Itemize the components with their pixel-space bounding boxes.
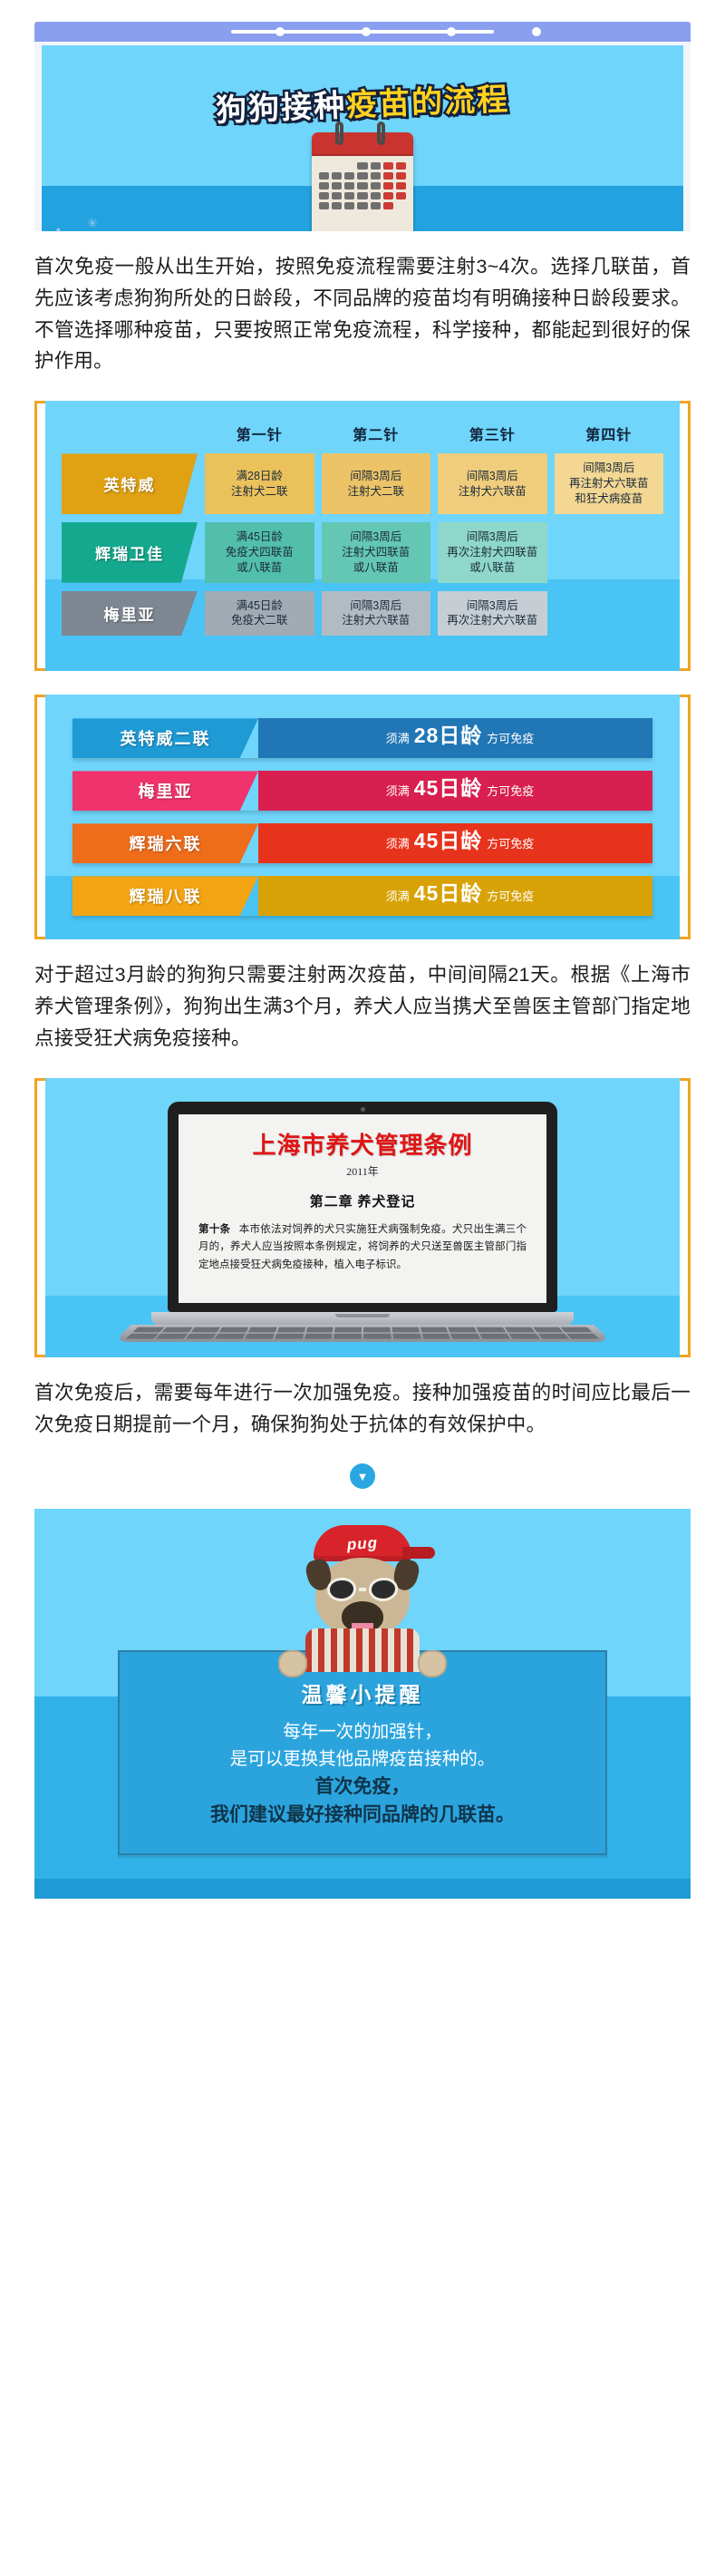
progress-dot-3 [447,27,456,36]
document-chapter: 第二章 养犬登记 [198,1191,527,1210]
agebar-prefix: 须满 [386,887,410,904]
document-title: 上海市养犬管理条例 [198,1127,527,1161]
progress-dot-1 [275,27,285,36]
laptop-keyboard [113,1325,613,1342]
agebar-suffix: 方可免疫 [487,834,534,851]
table-row: 辉瑞卫佳 满45日龄 免疫犬四联苗 或八联苗 间隔3周后 注射犬四联苗 或八联苗… [62,522,663,583]
tip-card: 温馨小提醒 每年一次的加强针， 是可以更换其他品牌疫苗接种的。 首次免疫， 我们… [118,1650,607,1855]
calendar-icon [312,132,413,231]
sparkle-star: ✳ [87,216,98,231]
calendar-ring-right [377,122,385,145]
list-item: 辉瑞六联 须满 45日龄 方可免疫 [72,823,652,863]
schedule-table: 第一针 第二针 第三针 第四针 英特威 满28日龄 注射犬二联 间隔3周后 注射… [45,401,680,671]
pug-snout [342,1601,383,1632]
agebar-prefix: 须满 [386,782,410,799]
hero-padding: 狗狗接种疫苗的流程 [34,42,691,231]
schedule-brand: 梅里亚 [62,591,198,637]
footer-strip [34,1879,691,1899]
agebar-suffix: 方可免疫 [487,887,534,904]
laptop-base [151,1312,574,1325]
agebar-number: 45日龄 [414,876,483,907]
list-item: 辉瑞八联 须满 45日龄 方可免疫 [72,876,652,916]
hero-topbar [34,22,691,42]
agebar-number: 45日龄 [414,823,483,854]
progress-dot-2 [362,27,371,36]
article-page: 狗狗接种疫苗的流程 [0,0,725,2576]
schedule-cell: 间隔3周后 再次注射犬六联苗 [438,591,547,637]
pug-cap: pug [314,1525,411,1561]
pug-dog-illustration: pug [285,1525,440,1672]
schedule-col-3: 第三针 [438,423,547,444]
agebar-number: 45日龄 [414,771,483,802]
chevron-down-icon: ▼ [350,1463,375,1489]
agebar-name: 英特威二联 [72,718,258,758]
agebar-prefix: 须满 [386,834,410,851]
schedule-brand: 辉瑞卫佳 [62,522,198,583]
schedule-cell: 间隔3周后 注射犬六联苗 [322,591,431,637]
schedule-cell: 间隔3周后 再次注射犬四联苗 或八联苗 [438,522,547,583]
list-item: 梅里亚 须满 45日龄 方可免疫 [72,771,652,811]
table-row: 梅里亚 满45日龄 免疫犬二联 间隔3周后 注射犬六联苗 间隔3周后 再次注射犬… [62,591,663,637]
tip-card-line-3: 首次免疫， [138,1773,587,1802]
schedule-cell: 满45日龄 免疫犬二联 [205,591,314,637]
paragraph-intro: 首次免疫一般从出生开始，按照免疫流程需要注射3~4次。选择几联苗，首先应该考虑狗… [34,251,691,377]
agebar-name: 辉瑞八联 [72,876,258,916]
schedule-col-2: 第二针 [322,423,431,444]
pug-paw-left [278,1650,307,1677]
laptop-lid: 上海市养犬管理条例 2011年 第二章 养犬登记 第十条 本市依法对饲养的犬只实… [168,1102,557,1312]
tip-card-line-1: 每年一次的加强针， [138,1719,587,1745]
figure-regulation-laptop: 上海市养犬管理条例 2011年 第二章 养犬登记 第十条 本市依法对饲养的犬只实… [34,1078,691,1357]
agebars-canvas: 英特威二联 须满 28日龄 方可免疫 梅里亚 须满 45日龄 方可免疫 [45,695,680,939]
schedule-cell: 间隔3周后 再注射犬六联苗 和狂犬病疫苗 [555,453,664,514]
agebar-value: 须满 28日龄 方可免疫 [258,718,652,758]
agebar-name: 辉瑞六联 [72,823,258,863]
schedule-cell: 满28日龄 注射犬二联 [205,453,314,514]
schedule-header-row: 第一针 第二针 第三针 第四针 [62,423,663,444]
schedule-header-blank [62,423,198,444]
laptop-illustration: 上海市养犬管理条例 2011年 第二章 养犬登记 第十条 本市依法对饲养的犬只实… [45,1078,680,1357]
tip-card-line-4: 我们建议最好接种同品牌的几联苗。 [138,1801,587,1830]
paragraph-booster: 首次免疫后，需要每年进行一次加强免疫。接种加强疫苗的时间应比最后一次免疫日期提前… [34,1377,691,1441]
laptop-canvas: 上海市养犬管理条例 2011年 第二章 养犬登记 第十条 本市依法对饲养的犬只实… [45,1078,680,1357]
section-divider: ▼ [34,1463,691,1489]
pug-body [305,1628,420,1672]
figure-age-requirements: 英特威二联 须满 28日龄 方可免疫 梅里亚 须满 45日龄 方可免疫 [34,695,691,939]
schedule-cell [555,522,664,583]
agebar-suffix: 方可免疫 [487,782,534,799]
calendar-grid [312,156,413,216]
progress-dot-4 [532,27,541,36]
paragraph-regulation: 对于超过3月龄的狗狗只需要注射两次疫苗，中间间隔21天。根据《上海市养犬管理条例… [34,959,691,1054]
schedule-cell: 间隔3周后 注射犬四联苗 或八联苗 [322,522,431,583]
schedule-cell: 间隔3周后 注射犬六联苗 [438,453,547,514]
pug-cap-text: pug [313,1532,411,1557]
article-text: 本市依法对饲养的犬只实施狂犬病强制免疫。犬只出生满三个月的，养犬人应当按照本条例… [198,1224,527,1270]
pug-face [315,1558,410,1636]
agebar-name: 梅里亚 [72,771,258,811]
footer-tip-section: pug 温馨小提醒 每年一次的加强针， 是可以更换其他品牌疫苗接种的。 首次免疫… [34,1509,691,1899]
sunglasses-icon [327,1578,398,1601]
pug-paw-right [418,1650,447,1677]
schedule-col-4: 第四针 [555,423,664,444]
agebar-value: 须满 45日龄 方可免疫 [258,771,652,811]
schedule-cell [555,591,664,637]
schedule-cell: 间隔3周后 注射犬二联 [322,453,431,514]
document-article: 第十条 本市依法对饲养的犬只实施狂犬病强制免疫。犬只出生满三个月的，养犬人应当按… [198,1221,527,1275]
calendar-header [312,132,413,156]
page-title-yellow: 疫苗的流程 [345,83,509,123]
page-title: 狗狗接种疫苗的流程 [42,67,683,136]
list-item: 英特威二联 须满 28日龄 方可免疫 [72,718,652,758]
schedule-col-1: 第一针 [205,423,314,444]
figure-vaccine-schedule: 第一针 第二针 第三针 第四针 英特威 满28日龄 注射犬二联 间隔3周后 注射… [34,401,691,671]
page-title-white: 狗狗接种 [216,89,347,128]
tip-card-title: 温馨小提醒 [138,1677,587,1708]
agebar-list: 英特威二联 须满 28日龄 方可免疫 梅里亚 须满 45日龄 方可免疫 [45,695,680,939]
schedule-cell: 满45日龄 免疫犬四联苗 或八联苗 [205,522,314,583]
sparkle-dot: • [56,222,61,237]
agebar-value: 须满 45日龄 方可免疫 [258,823,652,863]
table-row: 英特威 满28日龄 注射犬二联 间隔3周后 注射犬二联 间隔3周后 注射犬六联苗… [62,453,663,514]
laptop: 上海市养犬管理条例 2011年 第二章 养犬登记 第十条 本市依法对饲养的犬只实… [168,1102,557,1348]
schedule-brand: 英特威 [62,453,198,514]
agebar-prefix: 须满 [386,729,410,746]
article-number: 第十条 [198,1224,230,1235]
hero-banner: 狗狗接种疫苗的流程 [34,22,691,231]
laptop-screen: 上海市养犬管理条例 2011年 第二章 养犬登记 第十条 本市依法对饲养的犬只实… [179,1114,546,1303]
webcam-icon [361,1107,365,1112]
hero-illustration: 狗狗接种疫苗的流程 [42,45,683,231]
schedule-canvas: 第一针 第二针 第三针 第四针 英特威 满28日龄 注射犬二联 间隔3周后 注射… [45,401,680,671]
calendar-ring-left [335,122,343,145]
tip-card-line-2: 是可以更换其他品牌疫苗接种的。 [138,1746,587,1773]
agebar-suffix: 方可免疫 [487,729,534,746]
agebar-number: 28日龄 [414,718,483,749]
calendar-body [312,132,413,231]
document-year: 2011年 [198,1163,527,1179]
agebar-value: 须满 45日龄 方可免疫 [258,876,652,916]
